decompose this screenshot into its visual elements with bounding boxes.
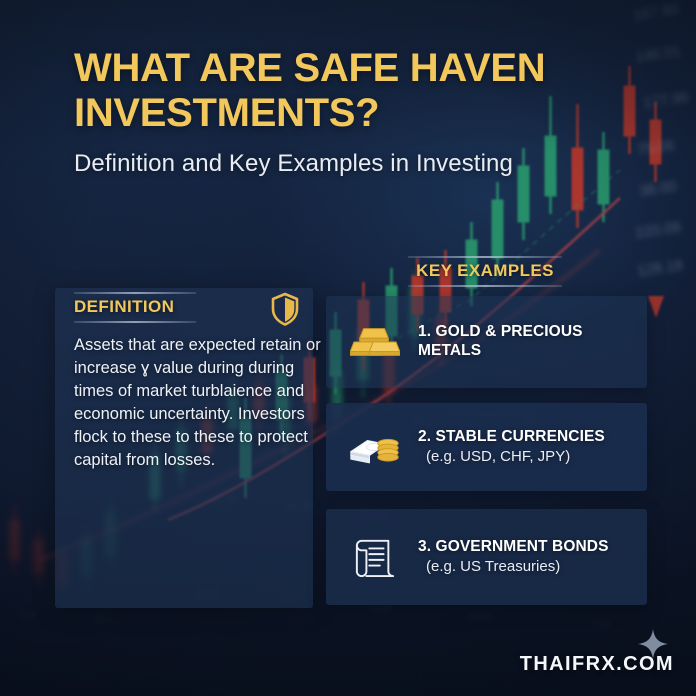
svg-text:75.06: 75.06: [636, 137, 676, 159]
footer-logo[interactable]: THAIFRX.COM: [520, 653, 674, 676]
page-title: WHAT ARE SAFE HAVEN INVESTMENTS?: [74, 46, 614, 136]
svg-text:220.08: 220.08: [634, 219, 682, 242]
key-example-text-gold: 1. GOLD & PRECIOUS METALS: [408, 323, 647, 361]
key-example-title: 2. STABLE CURRENCIES: [418, 428, 605, 447]
key-example-text-bonds: 3. GOVERNMENT BONDS (e.g. US Treasuries): [408, 538, 619, 576]
key-example-subtitle: (e.g. US Treasuries): [418, 557, 609, 577]
four-point-star-icon: [638, 629, 668, 659]
svg-text:726: 726: [592, 619, 610, 631]
key-example-card-gold[interactable]: 1. GOLD & PRECIOUS METALS: [326, 296, 647, 388]
definition-heading: DEFINITION: [74, 292, 196, 323]
definition-body-text: Assets that are expected retain or incre…: [74, 334, 322, 473]
bond-scroll-icon: [342, 535, 408, 579]
key-examples-rule-bottom: [408, 285, 562, 287]
definition-heading-rule-bottom: [74, 321, 196, 323]
svg-text:128.18: 128.18: [636, 257, 684, 280]
header: WHAT ARE SAFE HAVEN INVESTMENTS? Definit…: [74, 46, 614, 178]
svg-text:177.96: 177.96: [642, 89, 690, 112]
svg-text:5.3: 5.3: [96, 613, 111, 625]
key-example-text-currencies: 2. STABLE CURRENCIES (e.g. USD, CHF, JPY…: [408, 428, 615, 466]
key-example-card-currencies[interactable]: 2. STABLE CURRENCIES (e.g. USD, CHF, JPY…: [326, 403, 647, 491]
cash-and-coins-icon: [342, 427, 408, 467]
page-subtitle: Definition and Key Examples in Investing: [74, 150, 614, 178]
shield-icon: [270, 292, 300, 326]
infographic-canvas: 167.80 146.01 177.96 75.06 38.00 220.08 …: [0, 0, 696, 696]
definition-heading-label: DEFINITION: [74, 294, 196, 321]
key-example-title: 3. GOVERNMENT BONDS: [418, 538, 609, 557]
svg-text:38.00: 38.00: [638, 178, 678, 200]
key-example-card-bonds[interactable]: 3. GOVERNMENT BONDS (e.g. US Treasuries): [326, 509, 647, 605]
svg-text:167.80: 167.80: [632, 1, 680, 24]
svg-text:8.65: 8.65: [470, 611, 491, 623]
key-examples-heading-label: KEY EXAMPLES: [408, 258, 562, 285]
key-examples-heading: KEY EXAMPLES: [408, 256, 562, 287]
svg-text:9.4: 9.4: [20, 609, 35, 621]
key-example-subtitle: (e.g. USD, CHF, JPY): [418, 447, 605, 467]
key-example-title: 1. GOLD & PRECIOUS METALS: [418, 323, 637, 361]
svg-text:146.01: 146.01: [634, 43, 682, 66]
gold-bars-icon: [342, 321, 408, 363]
